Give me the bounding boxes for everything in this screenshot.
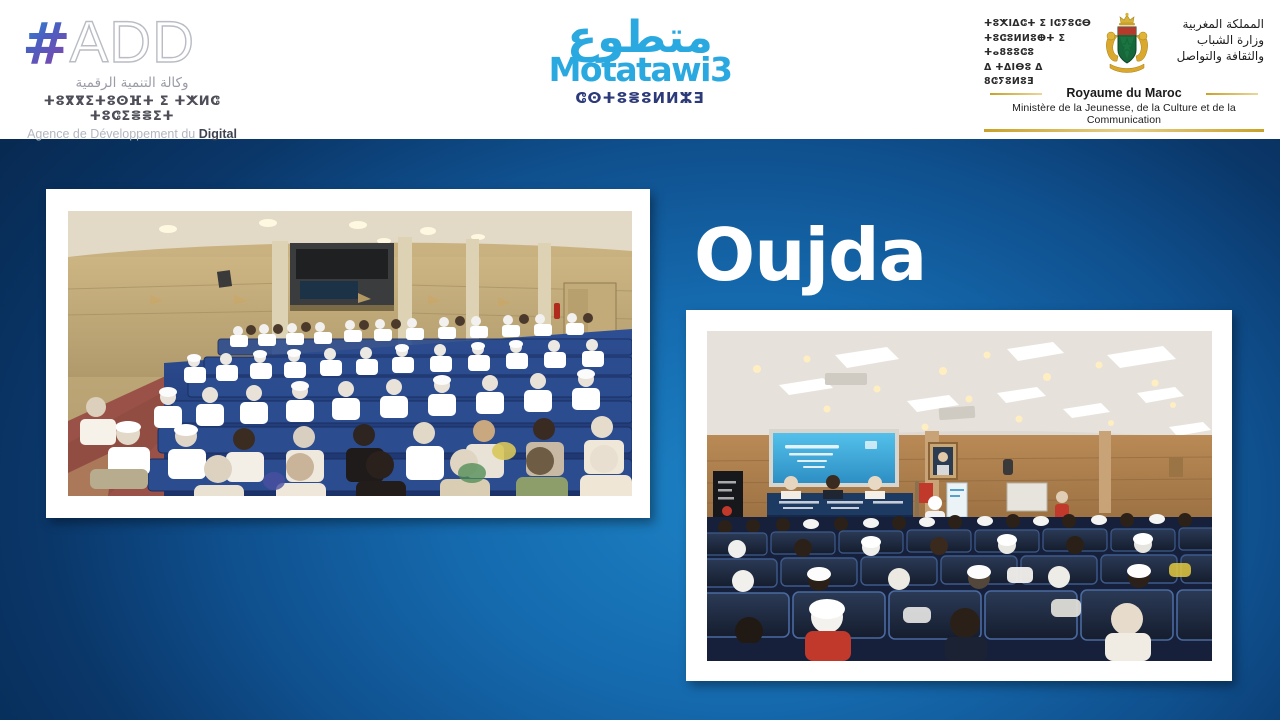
ministry-tifinagh-block: ⵜⵓⵅⵏⵠⵛⵜ ⵉ ⵏⵛⵢⵓⵛⴱ ⵜⵓⵛⵓⵍⵍⵓⴲⵜ ⵉ ⵜⴰ8ⵓⵓⵛⵓ ⵠ ⵜ… <box>984 12 1096 90</box>
ministry-kingdom-label: Royaume du Maroc <box>984 86 1264 100</box>
gold-divider <box>984 129 1264 132</box>
ministry-name-label: Ministère de la Jeunesse, de la Culture … <box>984 102 1264 126</box>
ministry-logo-top-row: ⵜⵓⵅⵏⵠⵛⵜ ⵉ ⵏⵛⵢⵓⵛⴱ ⵜⵓⵛⵓⵍⵍⵓⴲⵜ ⵉ ⵜⴰ8ⵓⵓⵛⵓ ⵠ ⵜ… <box>984 12 1264 84</box>
page-title: Oujda <box>694 216 926 294</box>
presentation-slide: # ADD وكالة التنمية الرقمية ⵜⵓⴳⴳⵉⵜⵓⵙⴼⵜ ⵉ… <box>0 0 1280 720</box>
photo-frame-auditorium <box>46 189 650 518</box>
add-logo-french-prefix: Agence de Développement du <box>27 127 199 141</box>
ministry-arabic-block: المملكة المغربية وزارة الشباب والثقافة و… <box>1158 12 1264 64</box>
ministry-arabic-line-1: المملكة المغربية <box>1158 16 1264 32</box>
photo-auditorium-audience <box>68 211 632 496</box>
ministry-tifinagh-line-2: ⵜⵓⵛⵓⵍⵍⵓⴲⵜ ⵉ ⵜⴰ8ⵓⵓⵛⵓ <box>984 32 1096 61</box>
ministry-tifinagh-line-1: ⵜⵓⵅⵏⵠⵛⵜ ⵉ ⵏⵛⵢⵓⵛⴱ <box>984 17 1096 32</box>
photo-conference-hall <box>707 331 1212 661</box>
ministry-logo: ⵜⵓⵅⵏⵠⵛⵜ ⵉ ⵏⵛⵢⵓⵛⴱ ⵜⵓⵛⵓⵍⵍⵓⴲⵜ ⵉ ⵜⴰ8ⵓⵓⵛⵓ ⵠ ⵜ… <box>984 12 1264 124</box>
add-logo-french-bold: Digital <box>199 127 237 141</box>
ministry-arabic-line-3: والثقافة والتواصل <box>1158 48 1264 64</box>
kingdom-text: Royaume du Maroc <box>1066 86 1181 100</box>
photo-frame-conference <box>686 310 1232 681</box>
add-logo-french-tagline: Agence de Développement du Digital <box>22 127 242 141</box>
slide-header: # ADD وكالة التنمية الرقمية ⵜⵓⴳⴳⵉⵜⵓⵙⴼⵜ ⵉ… <box>0 0 1280 139</box>
gold-rule-right <box>1206 93 1258 95</box>
ministry-arabic-line-2: وزارة الشباب <box>1158 32 1264 48</box>
moroccan-coat-of-arms-icon <box>1100 12 1154 80</box>
gold-rule-left <box>990 93 1042 95</box>
